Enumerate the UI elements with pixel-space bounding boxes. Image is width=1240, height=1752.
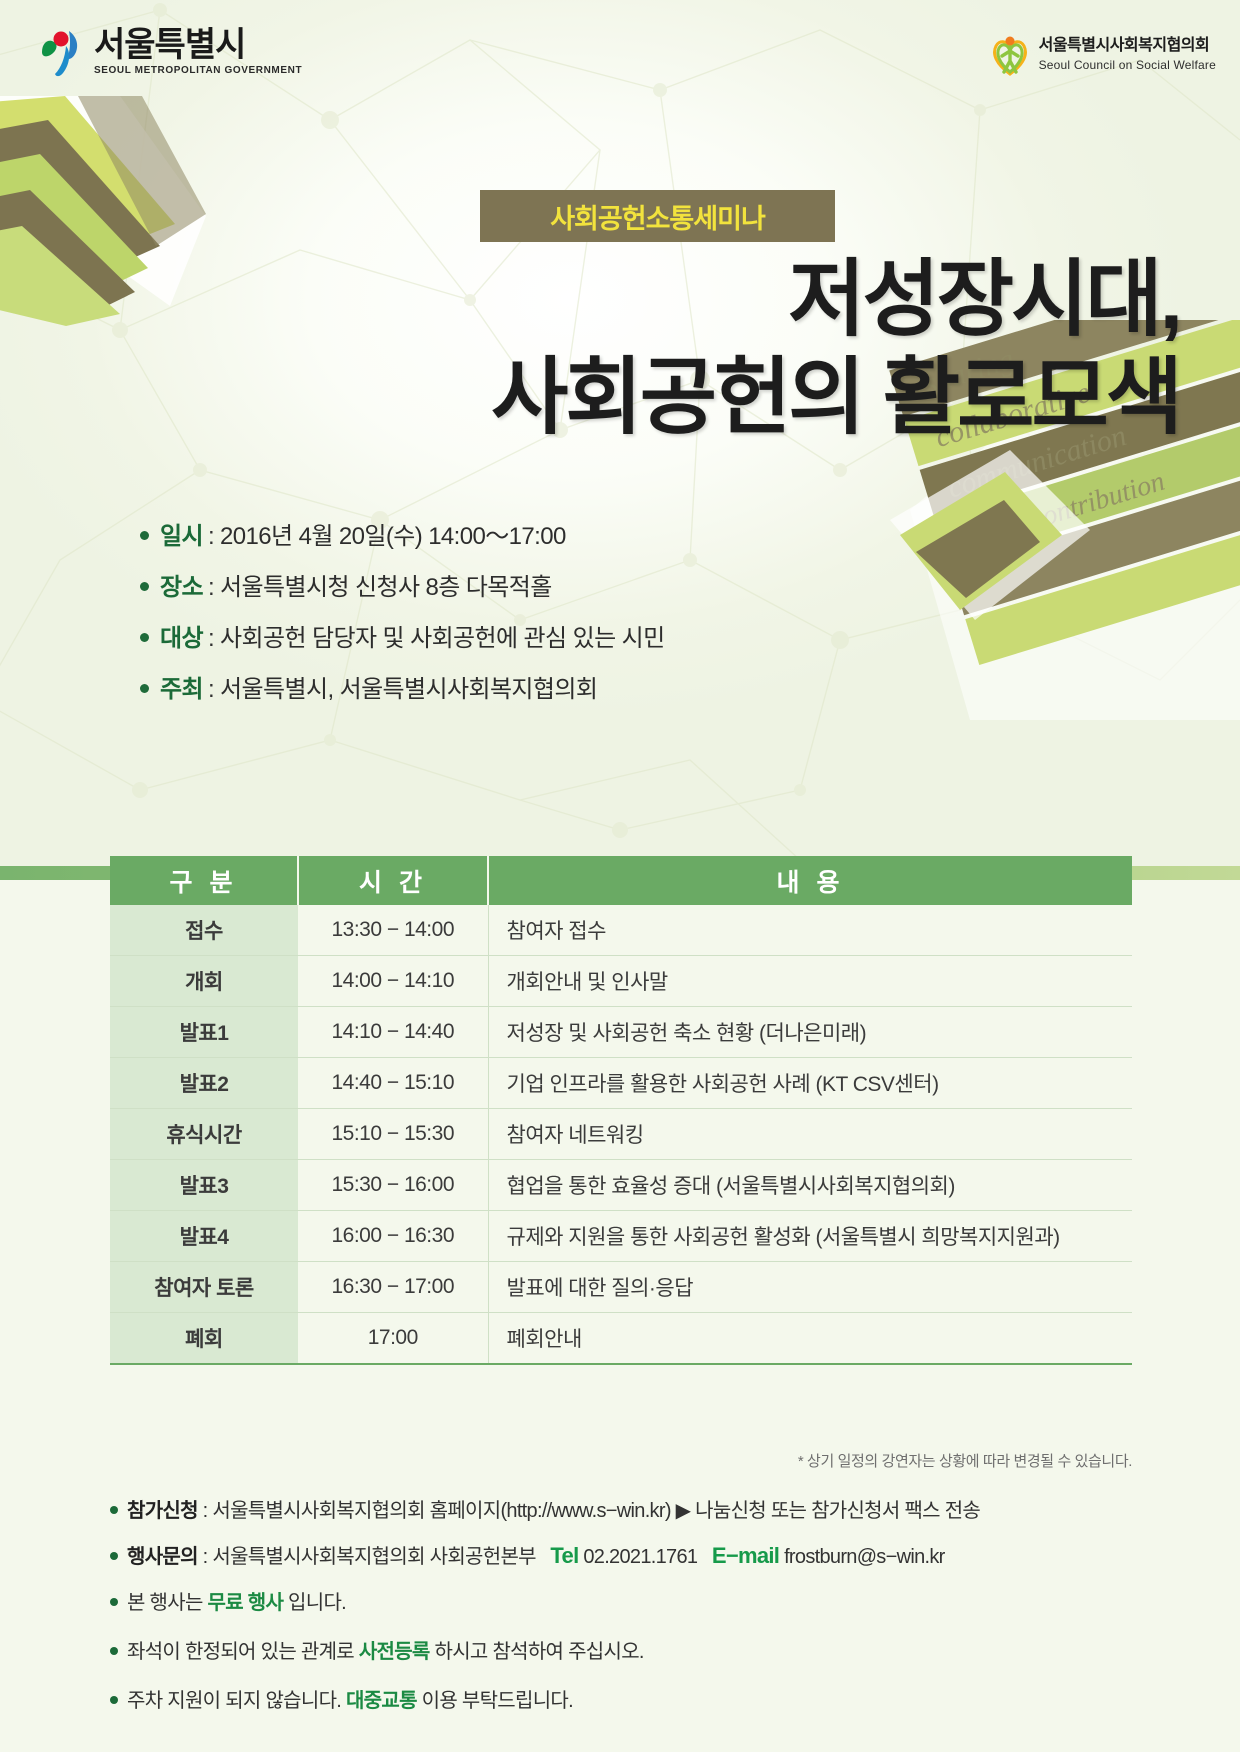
- title-line-1: 저성장시대,: [788, 252, 1180, 346]
- cell-time: 14:00 − 14:10: [298, 956, 488, 1007]
- title-line-2: 사회공헌의 활로모색: [60, 348, 1180, 446]
- cell-content: 규제와 지원을 통한 사회공헌 활성화 (서울특별시 희망복지지원과): [488, 1211, 1132, 1262]
- note-free: 본 행사는 무료 행사 입니다.: [110, 1586, 1170, 1615]
- event-info-list: 일시 : 2016년 4월 20일(수) 14:00〜17:00 장소 : 서울…: [140, 516, 780, 720]
- table-row: 발표4 16:00 − 16:30 규제와 지원을 통한 사회공헌 활성화 (서…: [110, 1211, 1132, 1262]
- seminar-badge-label: 사회공헌소통세미나: [550, 197, 765, 236]
- cell-time: 14:40 − 15:10: [298, 1058, 488, 1109]
- council-heart-icon: [990, 32, 1030, 76]
- info-colon: :: [208, 574, 214, 602]
- note-parking: 주차 지원이 되지 않습니다. 대중교통 이용 부탁드립니다.: [110, 1684, 1170, 1713]
- note-parking-pre: 주차 지원이 되지 않습니다.: [127, 1690, 346, 1712]
- cell-division: 발표2: [110, 1058, 298, 1109]
- note-parking-highlight: 대중교통: [346, 1690, 417, 1712]
- cell-content: 협업을 통한 효율성 증대 (서울특별시사회복지협의회): [488, 1160, 1132, 1211]
- cell-division: 개회: [110, 956, 298, 1007]
- note-seat: 좌석이 한정되어 있는 관계로 사전등록 하시고 참석하여 주십시오.: [110, 1635, 1170, 1664]
- cell-time: 16:30 − 17:00: [298, 1262, 488, 1313]
- table-row: 발표3 15:30 − 16:00 협업을 통한 효율성 증대 (서울특별시사회…: [110, 1160, 1132, 1211]
- info-colon: :: [208, 523, 214, 551]
- cell-division: 휴식시간: [110, 1109, 298, 1160]
- cell-content: 기업 인프라를 활용한 사회공헌 사례 (KT CSV센터): [488, 1058, 1132, 1109]
- cell-content: 저성장 및 사회공헌 축소 현황 (더나은미래): [488, 1007, 1132, 1058]
- tel-label: Tel: [550, 1543, 578, 1568]
- table-row: 발표1 14:10 − 14:40 저성장 및 사회공헌 축소 현황 (더나은미…: [110, 1007, 1132, 1058]
- cell-content: 참여자 접수: [488, 905, 1132, 956]
- bullet-dot-icon: [110, 1506, 118, 1514]
- note-seat-post: 하시고 참석하여 주십시오.: [430, 1641, 644, 1663]
- note-apply-text: : 서울특별시사회복지협의회 홈페이지(http://www.s−win.kr)…: [198, 1500, 980, 1522]
- info-colon: :: [208, 625, 214, 653]
- cell-time: 15:30 − 16:00: [298, 1160, 488, 1211]
- info-label-date: 일시: [160, 516, 203, 551]
- table-row: 폐회 17:00 폐회안내: [110, 1313, 1132, 1365]
- info-label-venue: 장소: [160, 567, 203, 602]
- info-colon: :: [208, 676, 214, 704]
- logo-right-kr: 서울특별시사회복지협의회: [1039, 38, 1210, 54]
- note-inquiry-label: 행사문의: [127, 1546, 198, 1568]
- cell-content: 개회안내 및 인사말: [488, 956, 1132, 1007]
- seminar-badge: 사회공헌소통세미나: [480, 190, 835, 242]
- col-header-content: 내 용: [488, 856, 1132, 905]
- email-value[interactable]: frostburn@s−win.kr: [784, 1546, 945, 1568]
- note-free-post: 입니다.: [283, 1592, 346, 1614]
- info-item-audience: 대상 : 사회공헌 담당자 및 사회공헌에 관심 있는 시민: [140, 618, 780, 653]
- cell-content: 폐회안내: [488, 1313, 1132, 1365]
- info-label-host: 주최: [160, 669, 203, 704]
- schedule-table-wrapper: 구 분 시 간 내 용 접수 13:30 − 14:00 참여자 접수 개회 1…: [110, 856, 1132, 1365]
- info-item-venue: 장소 : 서울특별시청 신청사 8층 다목적홀: [140, 567, 780, 602]
- note-inquiry: 행사문의 : 서울특별시사회복지협의회 사회공헌본부 Tel 02.2021.1…: [110, 1540, 1170, 1569]
- info-value-venue: 서울특별시청 신청사 8층 다목적홀: [220, 567, 552, 602]
- col-header-division: 구 분: [110, 856, 298, 905]
- table-row: 발표2 14:40 − 15:10 기업 인프라를 활용한 사회공헌 사례 (K…: [110, 1058, 1132, 1109]
- logo-left-kr: 서울특별시: [94, 28, 302, 62]
- bullet-dot-icon: [140, 531, 149, 540]
- tel-value: 02.2021.1761: [583, 1546, 697, 1568]
- note-seat-highlight: 사전등록: [359, 1641, 430, 1663]
- cell-content: 참여자 네트워킹: [488, 1109, 1132, 1160]
- seoul-council-social-welfare-logo: 서울특별시사회복지협의회 Seoul Council on Social Wel…: [990, 32, 1216, 76]
- cell-time: 14:10 − 14:40: [298, 1007, 488, 1058]
- cell-content: 발표에 대한 질의·응답: [488, 1262, 1132, 1313]
- schedule-footnote: * 상기 일정의 강연자는 상황에 따라 변경될 수 있습니다.: [110, 1450, 1132, 1471]
- note-inquiry-text: : 서울특별시사회복지협의회 사회공헌본부: [198, 1546, 536, 1568]
- cell-division: 발표1: [110, 1007, 298, 1058]
- table-row: 개회 14:00 − 14:10 개회안내 및 인사말: [110, 956, 1132, 1007]
- note-apply: 참가신청 : 서울특별시사회복지협의회 홈페이지(http://www.s−wi…: [110, 1494, 1170, 1523]
- note-parking-post: 이용 부탁드립니다.: [417, 1690, 573, 1712]
- note-apply-label: 참가신청: [127, 1500, 198, 1522]
- bullet-dot-icon: [110, 1696, 118, 1704]
- logo-right-en: Seoul Council on Social Welfare: [1039, 59, 1216, 71]
- info-value-date: 2016년 4월 20일(수) 14:00〜17:00: [220, 516, 566, 551]
- cell-time: 17:00: [298, 1313, 488, 1365]
- table-row: 휴식시간 15:10 − 15:30 참여자 네트워킹: [110, 1109, 1132, 1160]
- email-label: E−mail: [712, 1543, 779, 1568]
- bullet-dot-icon: [110, 1598, 118, 1606]
- bullet-dot-icon: [110, 1552, 118, 1560]
- bullet-dot-icon: [110, 1647, 118, 1655]
- cell-time: 15:10 − 15:30: [298, 1109, 488, 1160]
- bullet-dot-icon: [140, 684, 149, 693]
- cell-division: 폐회: [110, 1313, 298, 1365]
- poster-root: sharing collaborative communication soci…: [0, 0, 1240, 1752]
- note-free-highlight: 무료 행사: [208, 1592, 284, 1614]
- bullet-dot-icon: [140, 582, 149, 591]
- seoul-metropolitan-government-logo: 서울특별시 SEOUL METROPOLITAN GOVERNMENT: [36, 26, 302, 78]
- page-title: 저성장시대, 사회공헌의 활로모색: [60, 250, 1240, 447]
- info-value-audience: 사회공헌 담당자 및 사회공헌에 관심 있는 시민: [220, 618, 665, 653]
- cell-division: 발표4: [110, 1211, 298, 1262]
- note-free-pre: 본 행사는: [127, 1592, 208, 1614]
- schedule-table: 구 분 시 간 내 용 접수 13:30 − 14:00 참여자 접수 개회 1…: [110, 856, 1132, 1365]
- bottom-notes: 참가신청 : 서울특별시사회복지협의회 홈페이지(http://www.s−wi…: [110, 1494, 1170, 1733]
- cell-division: 참여자 토론: [110, 1262, 298, 1313]
- cell-division: 발표3: [110, 1160, 298, 1211]
- table-row: 접수 13:30 − 14:00 참여자 접수: [110, 905, 1132, 956]
- cell-division: 접수: [110, 905, 298, 956]
- seoul-haechi-icon: [36, 26, 84, 78]
- cell-time: 16:00 − 16:30: [298, 1211, 488, 1262]
- cell-time: 13:30 − 14:00: [298, 905, 488, 956]
- info-value-host: 서울특별시, 서울특별시사회복지협의회: [220, 669, 597, 704]
- info-item-date: 일시 : 2016년 4월 20일(수) 14:00〜17:00: [140, 516, 780, 551]
- table-header-row: 구 분 시 간 내 용: [110, 856, 1132, 905]
- bullet-dot-icon: [140, 633, 149, 642]
- table-row: 참여자 토론 16:30 − 17:00 발표에 대한 질의·응답: [110, 1262, 1132, 1313]
- logo-left-en: SEOUL METROPOLITAN GOVERNMENT: [94, 66, 302, 76]
- info-item-host: 주최 : 서울특별시, 서울특별시사회복지협의회: [140, 669, 780, 704]
- col-header-time: 시 간: [298, 856, 488, 905]
- info-label-audience: 대상: [160, 618, 203, 653]
- hero-section: sharing collaborative communication soci…: [0, 0, 1240, 880]
- note-seat-pre: 좌석이 한정되어 있는 관계로: [127, 1641, 359, 1663]
